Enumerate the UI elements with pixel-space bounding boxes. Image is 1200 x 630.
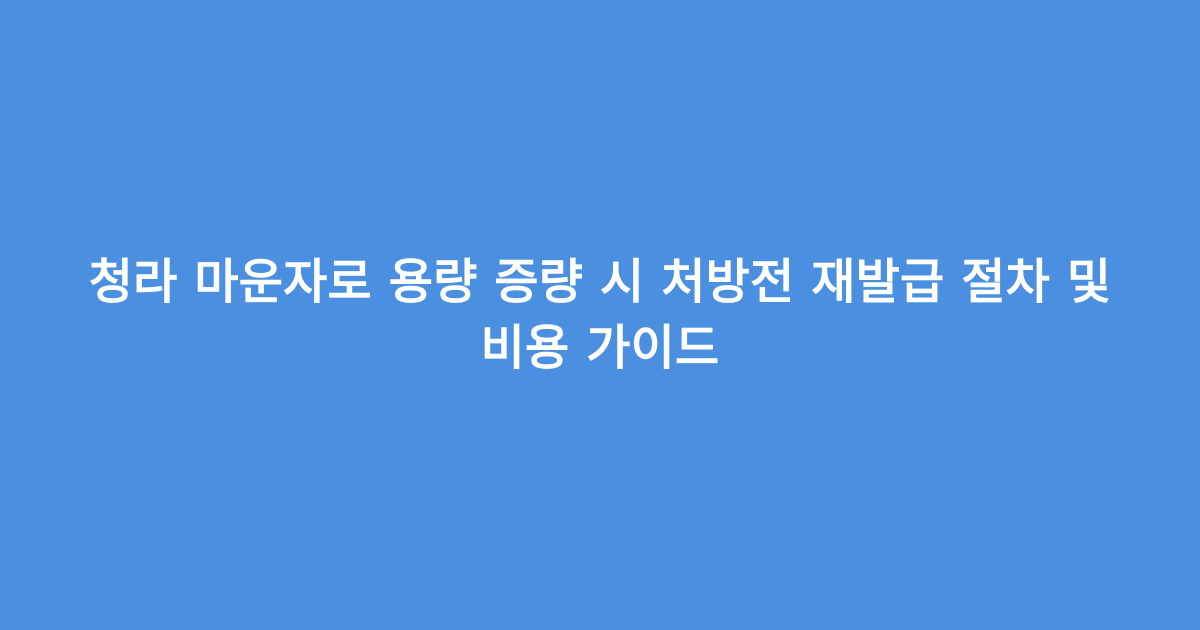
page-title: 청라 마운자로 용량 증량 시 처방전 재발급 절차 및 비용 가이드 xyxy=(60,249,1140,381)
og-card: 청라 마운자로 용량 증량 시 처방전 재발급 절차 및 비용 가이드 xyxy=(0,0,1200,630)
og-card-content: 청라 마운자로 용량 증량 시 처방전 재발급 절차 및 비용 가이드 xyxy=(60,249,1140,381)
